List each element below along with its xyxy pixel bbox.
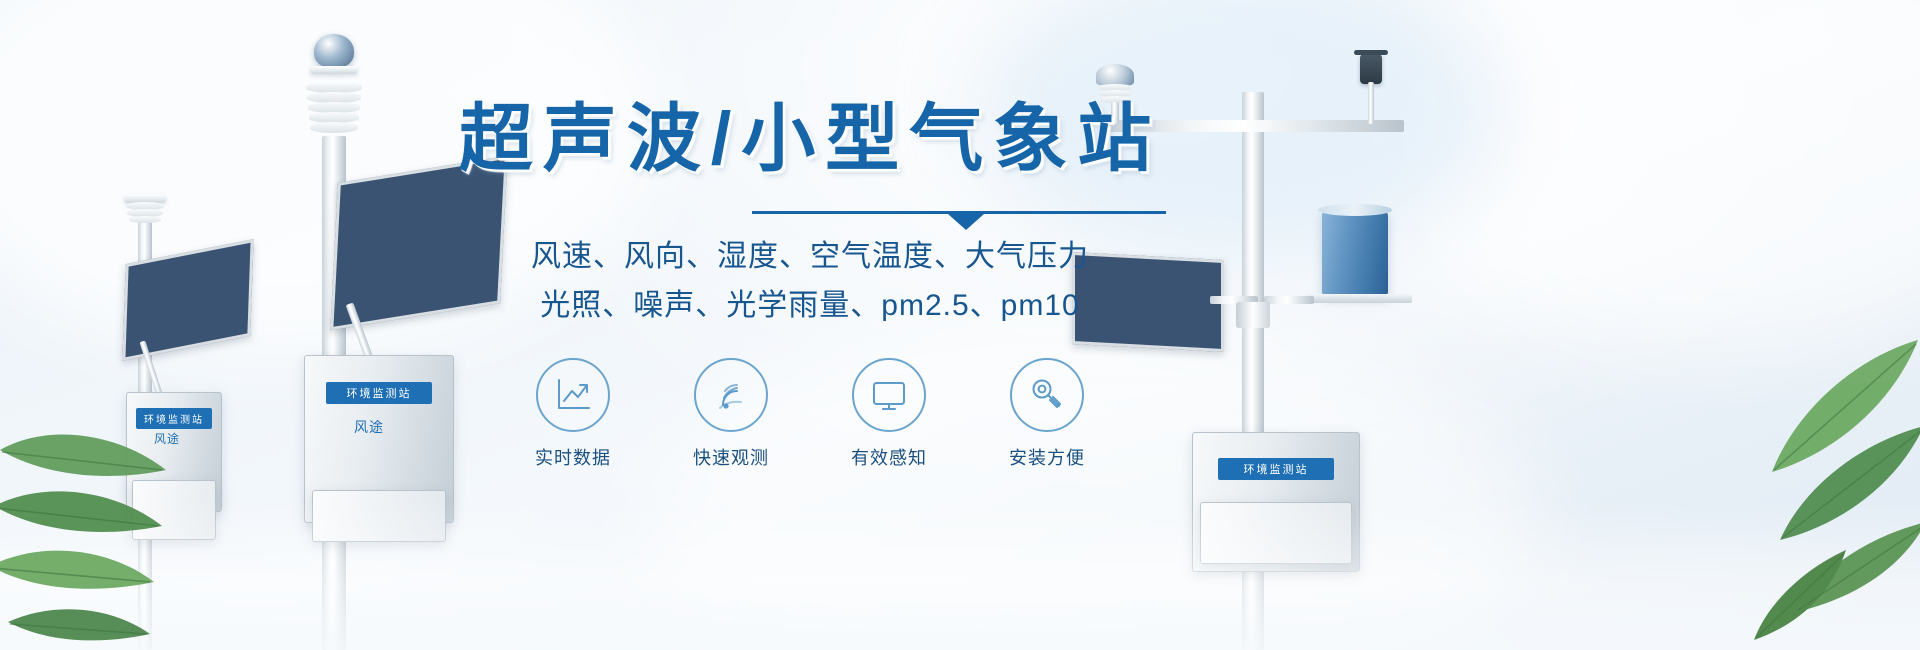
feature-label: 快速观测 (679, 444, 783, 470)
brand-logo-label: 风途 (354, 417, 384, 437)
tropical-leaf-right (1656, 300, 1920, 650)
feature-icon-circle (852, 358, 926, 432)
rain-gauge-rim (1318, 204, 1392, 216)
feature-icon-circle (1010, 358, 1084, 432)
feature-list: 实时数据 快速观测 (440, 358, 1180, 470)
anemometer-stem (1368, 82, 1374, 124)
sensor-top-cap (310, 66, 358, 74)
anemometer-sensor (1360, 54, 1382, 84)
feature-item-effective-sensing[interactable]: 有效感知 (837, 358, 941, 470)
shield-fin (310, 122, 358, 133)
feature-label: 安装方便 (995, 444, 1099, 470)
anemometer-vane (1354, 50, 1388, 55)
cabinet-lower-box (1200, 502, 1352, 564)
cabinet-lower-box (312, 490, 446, 542)
feature-label: 有效感知 (837, 444, 941, 470)
ultrasonic-wind-sensor (1096, 64, 1134, 86)
divider-triangle-icon (948, 214, 984, 230)
feature-icon-circle (536, 358, 610, 432)
rain-gauge-support (1264, 296, 1314, 304)
rain-gauge (1322, 210, 1388, 296)
feature-item-fast-observation[interactable]: 快速观测 (679, 358, 783, 470)
feature-item-realtime-data[interactable]: 实时数据 (521, 358, 625, 470)
cabinet-label: 环境监测站 (1218, 458, 1334, 480)
pole-collar (1236, 302, 1270, 328)
wrench-icon (1027, 375, 1067, 415)
subtitle-line-1: 风速、风向、湿度、空气温度、大气压力 (440, 233, 1180, 282)
tropical-leaf-left (0, 330, 220, 650)
product-banner: 环境监测站 风途 环境监测站 风途 (0, 0, 1920, 650)
subtitle-block: 风速、风向、湿度、空气温度、大气压力 光照、噪声、光学雨量、pm2.5、pm10 (440, 233, 1180, 330)
page-title: 超声波/小型气象站 (440, 96, 1180, 181)
title-divider (440, 203, 1180, 225)
monitor-icon (869, 377, 909, 413)
feature-icon-circle (694, 358, 768, 432)
feature-item-easy-install[interactable]: 安装方便 (995, 358, 1099, 470)
ultrasonic-sensor-dome (314, 34, 354, 68)
banner-text-column: 超声波/小型气象站 风速、风向、湿度、空气温度、大气压力 光照、噪声、光学雨量、… (440, 96, 1180, 470)
feature-label: 实时数据 (521, 444, 625, 470)
subtitle-line-2: 光照、噪声、光学雨量、pm2.5、pm10 (440, 282, 1180, 331)
rain-gauge-shelf (1306, 294, 1412, 303)
shield-fin (129, 216, 161, 223)
cabinet-label: 环境监测站 (326, 382, 432, 404)
signal-radar-icon (711, 375, 751, 415)
line-chart-icon (553, 376, 593, 414)
